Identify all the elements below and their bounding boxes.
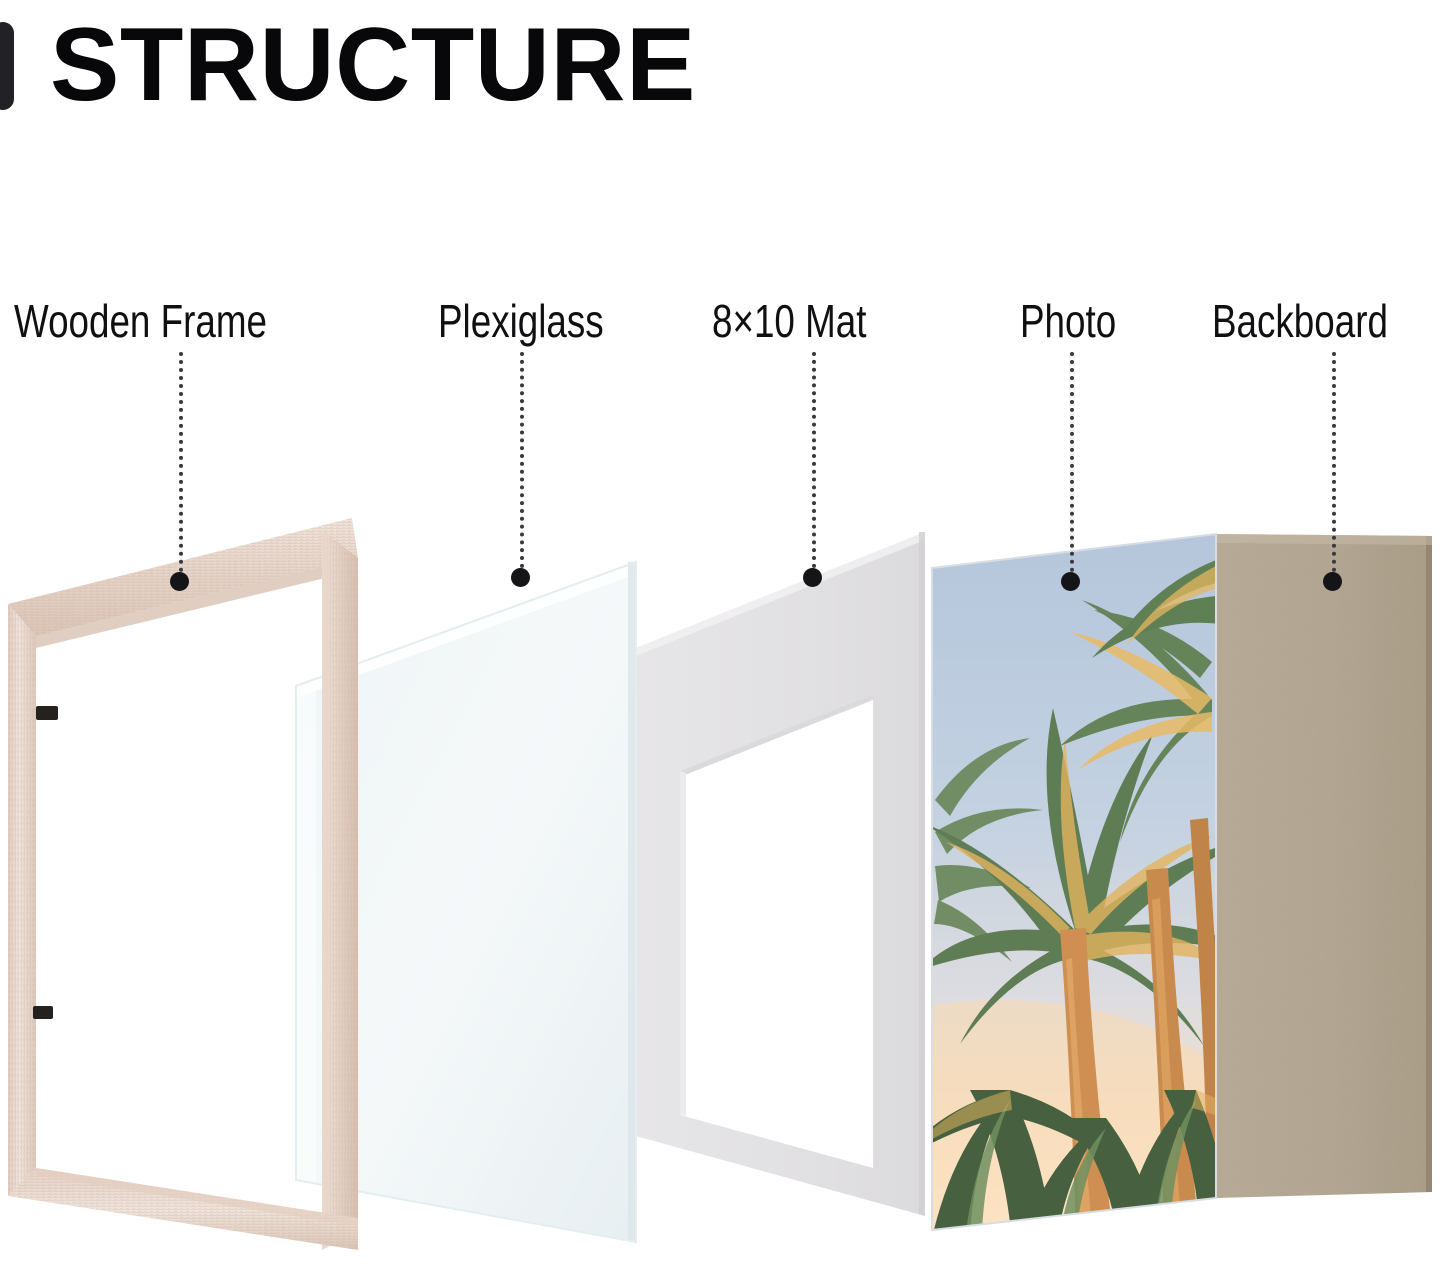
leader-line-plexiglass (520, 352, 524, 576)
callout-label-photo: Photo (1020, 298, 1116, 344)
leader-line-photo (1070, 352, 1074, 580)
frame-clip-lower (33, 1006, 53, 1019)
callout-label-plexiglass: Plexiglass (438, 298, 604, 344)
callout-label-mat: 8×10 Mat (712, 298, 866, 344)
leader-dot-plexiglass (511, 568, 530, 587)
leader-dot-mat (803, 568, 822, 587)
callout-label-wooden-frame: Wooden Frame (14, 298, 267, 344)
leader-line-wooden-frame (179, 352, 183, 580)
leader-dot-photo (1061, 572, 1080, 591)
mat-board-icon (636, 532, 925, 1216)
leader-dot-backboard (1323, 572, 1342, 591)
leader-line-backboard (1332, 352, 1336, 580)
leader-line-mat (812, 352, 816, 576)
callout-label-backboard: Backboard (1212, 298, 1388, 344)
leader-dot-wooden-frame (170, 572, 189, 591)
backboard-icon (1216, 534, 1432, 1198)
frame-clip-upper (36, 706, 58, 720)
exploded-frame-diagram (0, 0, 1445, 1269)
